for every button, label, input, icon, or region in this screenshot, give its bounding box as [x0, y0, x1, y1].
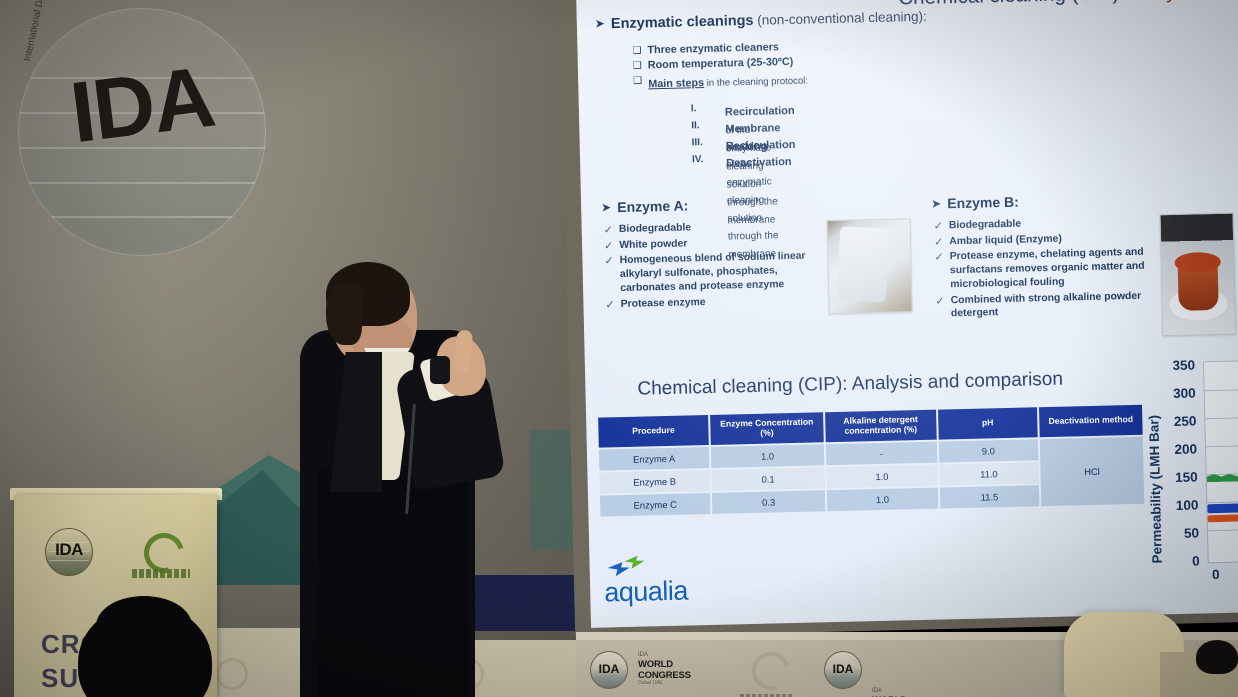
aqualia-blue-arrow-icon	[608, 562, 630, 577]
main-steps-text: Main steps in the cleaning protocol:	[648, 71, 808, 93]
enzyme-b-heading: ➤ Enzyme B:	[931, 194, 1019, 212]
cell-procedure: Enzyme A	[599, 447, 710, 471]
cell-enzyme-conc: 0.3	[712, 490, 825, 514]
presenter-clicker	[430, 356, 450, 384]
step-text: Deactivation	[726, 152, 792, 172]
banner-green-ring-icon-1	[752, 652, 792, 697]
check-icon: ✓	[934, 235, 944, 248]
square-bullet-icon: ❑	[633, 59, 642, 71]
projection-screen: Chemical cleaning (CIP): Enzymatic clean…	[576, 0, 1238, 628]
check-icon: ✓	[935, 294, 945, 307]
banner-world-congress-2: IDA WORLD CONGRESS Dubai UAE	[872, 686, 936, 697]
cell-deactivation-method: HCl	[1040, 437, 1145, 506]
cell-procedure: Enzyme C	[600, 493, 711, 517]
podium-ida-label: IDA	[46, 540, 92, 560]
cell-alkaline-conc: 1.0	[827, 487, 938, 511]
x-tick-0: 0	[1212, 567, 1220, 582]
y-tick-250: 250	[1162, 414, 1196, 430]
enzyme-a-item: ✓ Homogeneous blend of sodium linear alk…	[604, 250, 820, 296]
speaker-hair-side	[326, 285, 362, 345]
check-icon: ✓	[934, 219, 944, 232]
cell-enzyme-conc: 0.1	[711, 467, 824, 491]
cell-procedure: Enzyme B	[599, 470, 710, 494]
col-deactivation: Deactivation method	[1039, 405, 1143, 437]
presentation-photo: IDA International Desalination Associati…	[0, 0, 1238, 697]
check-icon: ✓	[604, 239, 614, 252]
foreground-head-silhouette	[1196, 640, 1238, 674]
cell-alkaline-conc: 1.0	[826, 464, 937, 488]
y-tick-150: 150	[1164, 469, 1198, 485]
y-tick-50: 50	[1165, 525, 1199, 541]
aqualia-wordmark: aqualia	[604, 576, 688, 609]
enzyme-b-item: ✓ Protease enzyme, chelating agents and …	[934, 246, 1153, 292]
heading-text: Enzymatic cleanings (non-conventional cl…	[611, 8, 927, 33]
panel-ring-icon	[216, 658, 248, 690]
col-procedure: Procedure	[598, 415, 709, 447]
square-bullet-icon: ❑	[632, 44, 641, 56]
permeability-chart: Permeability (LMH Bar) 350 300 250 200 1…	[1145, 350, 1238, 593]
speaker-legs	[318, 470, 468, 697]
enzyme-b-list: ✓ Biodegradable ✓ Ambar liquid (Enzyme) …	[934, 215, 1154, 322]
chart-plot-area	[1203, 360, 1238, 563]
podium-ida-icon: IDA	[45, 528, 93, 576]
col-alkaline-conc: Alkaline detergent concentration (%)	[825, 410, 937, 442]
comparison-table: Procedure Enzyme Concentration (%) Alkal…	[596, 403, 1146, 519]
check-icon: ✓	[604, 255, 614, 268]
square-bullet-item-3: ❑ Main steps in the cleaning protocol:	[633, 71, 808, 93]
banner-world-congress-1: IDA WORLD CONGRESS Dubai UAE	[638, 650, 702, 686]
aqualia-logo: aqualia	[604, 576, 688, 609]
chart-series-blue	[1207, 503, 1238, 513]
enzyme-a-heading: ➤ Enzyme A:	[601, 197, 688, 215]
amber-liquid-photo	[1159, 213, 1236, 337]
slide-content: Chemical cleaning (CIP): Enzymatic clean…	[576, 0, 1238, 628]
white-powder-photo	[827, 218, 913, 314]
banner-ida-logo-1: IDA	[590, 651, 628, 689]
arrow-bullet-icon: ➤	[931, 195, 941, 209]
slide-title-black: Chemical cleaning (CIP):	[898, 0, 1131, 9]
chart-series-orange	[1208, 514, 1238, 522]
y-tick-300: 300	[1162, 386, 1196, 402]
check-icon: ✓	[604, 223, 614, 236]
enzymatic-cleanings-heading: ➤ Enzymatic cleanings (non-conventional …	[595, 8, 927, 34]
cell-ph: 9.0	[939, 439, 1039, 462]
square-bullet-item-2: ❑ Room temperatura (25-30ºC)	[633, 56, 794, 72]
cell-enzyme-conc: 1.0	[711, 444, 824, 468]
enzyme-a-list: ✓ Biodegradable ✓ White powder ✓ Homogen…	[604, 218, 821, 311]
col-ph: pH	[938, 407, 1038, 439]
y-tick-200: 200	[1163, 441, 1197, 457]
table-section-title: Chemical cleaning (CIP): Analysis and co…	[637, 369, 1063, 401]
y-tick-0: 0	[1166, 553, 1200, 569]
check-icon: ✓	[934, 251, 944, 264]
podium-arabic-text	[132, 569, 190, 578]
square-bullet-item-1: ❑ Three enzymatic cleaners	[632, 41, 779, 56]
cell-alkaline-conc: -	[826, 441, 937, 465]
y-tick-350: 350	[1161, 358, 1195, 374]
cleaning-protocol-steps: I. Recirculation of the enzymatic cleani…	[691, 103, 693, 171]
slide-title: Chemical cleaning (CIP): Enzymatic clean…	[898, 0, 1238, 10]
arrow-bullet-icon: ➤	[601, 199, 611, 213]
cell-ph: 11.5	[940, 485, 1040, 508]
slide-title-red: Enzymatic cleani	[1130, 0, 1238, 4]
aqualia-green-arrow-icon	[624, 556, 644, 569]
square-bullet-icon: ❑	[633, 74, 642, 86]
cell-ph: 11.0	[939, 462, 1039, 485]
y-tick-100: 100	[1164, 497, 1198, 513]
enzyme-a-item: ✓ Protease enzyme	[605, 293, 820, 312]
enzyme-b-item: ✓ Combined with strong alkaline powder d…	[935, 289, 1154, 322]
arrow-bullet-icon: ➤	[595, 15, 605, 29]
col-enzyme-conc: Enzyme Concentration (%)	[710, 412, 824, 444]
ida-wall-logo: IDA International Desalination Associati…	[18, 8, 266, 256]
banner-ida-logo-2: IDA	[824, 651, 862, 689]
check-icon: ✓	[605, 298, 615, 311]
